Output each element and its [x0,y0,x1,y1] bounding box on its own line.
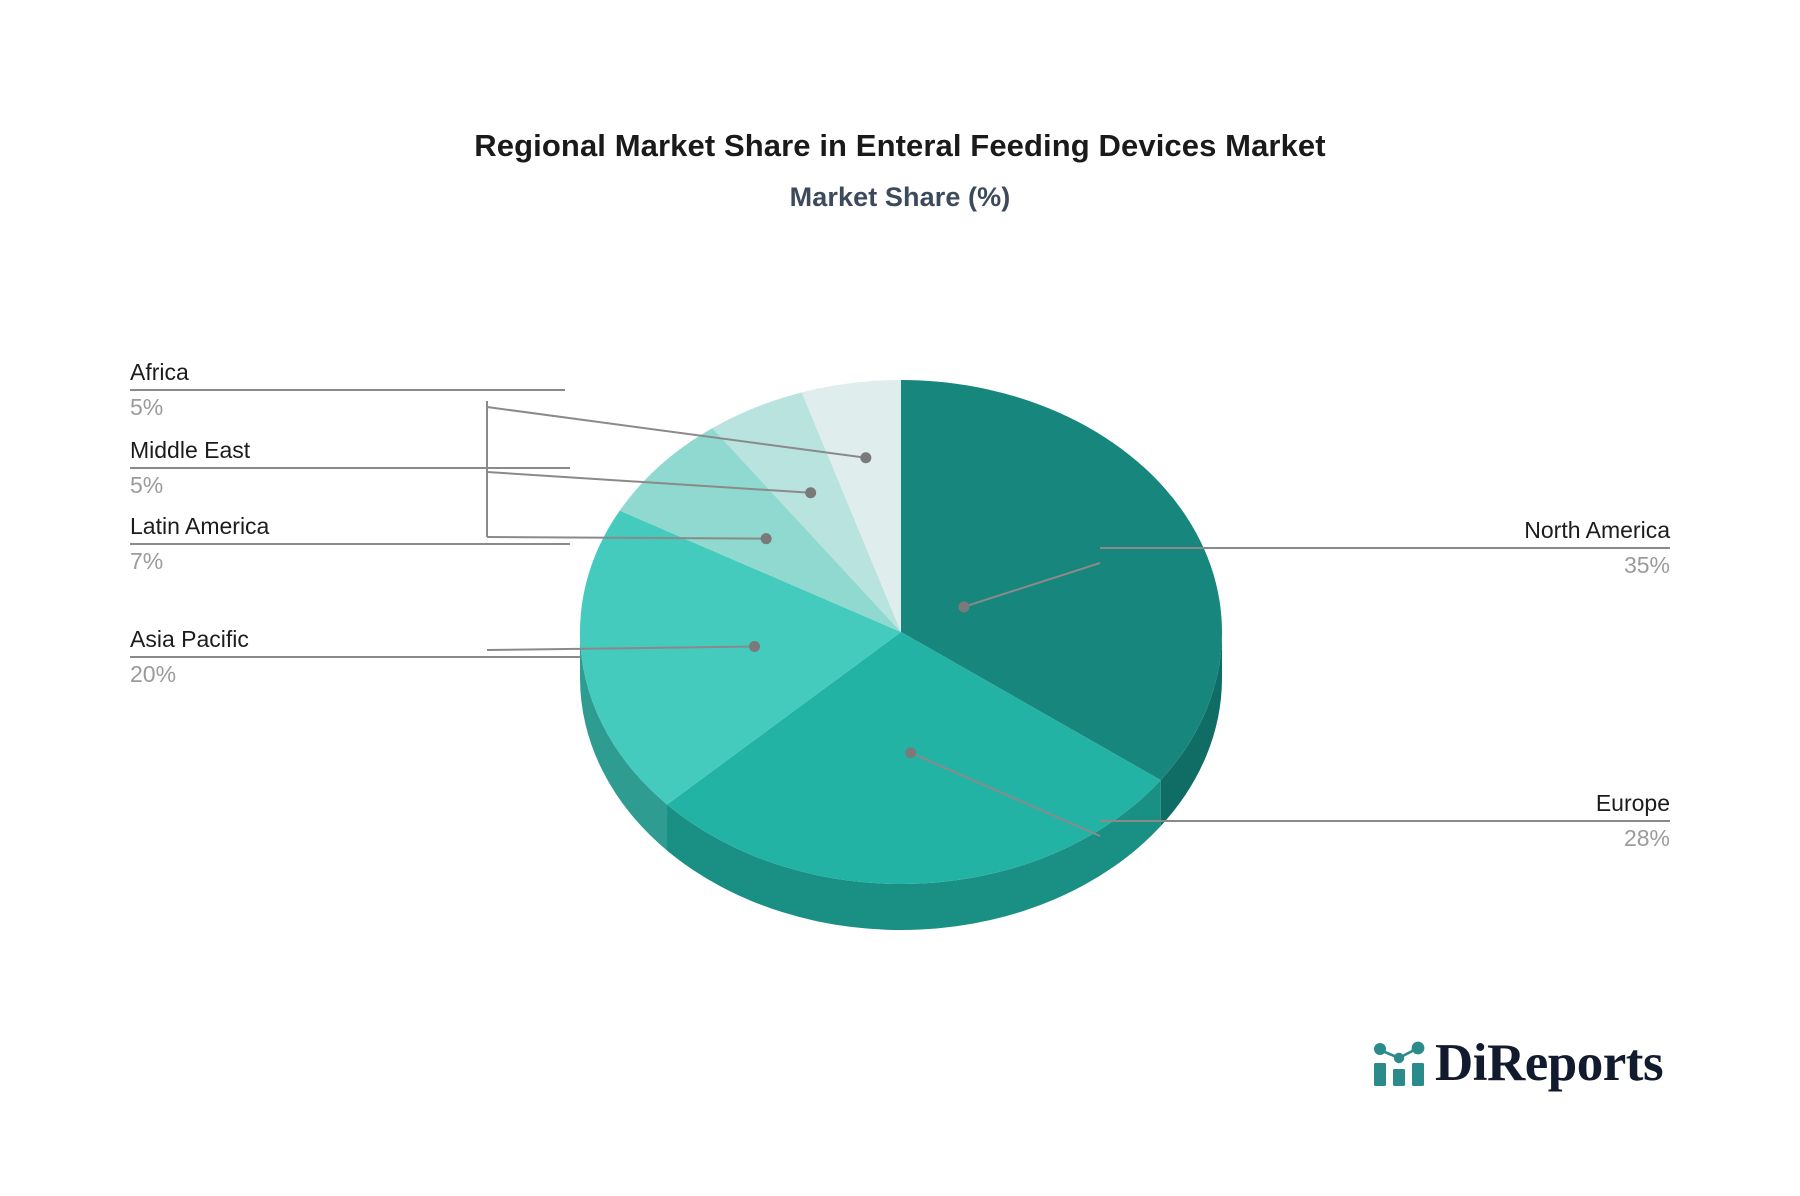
leader-dot-middle_east [805,487,816,498]
leader-dot-asia_pacific [749,641,760,652]
leader-dot-north_america [958,601,969,612]
pie-graphic [0,0,1800,1196]
leader-dot-africa [860,452,871,463]
direports-logo: DiReports [1371,1032,1663,1094]
leader-dot-latin_america [761,533,772,544]
bar-chart-icon [1371,1037,1429,1089]
pie-slices-group [580,380,1222,930]
pie-chart-figure: Regional Market Share in Enteral Feeding… [0,0,1800,1196]
leader-dot-europe [905,747,916,758]
logo-wordmark: DiReports [1435,1037,1663,1090]
